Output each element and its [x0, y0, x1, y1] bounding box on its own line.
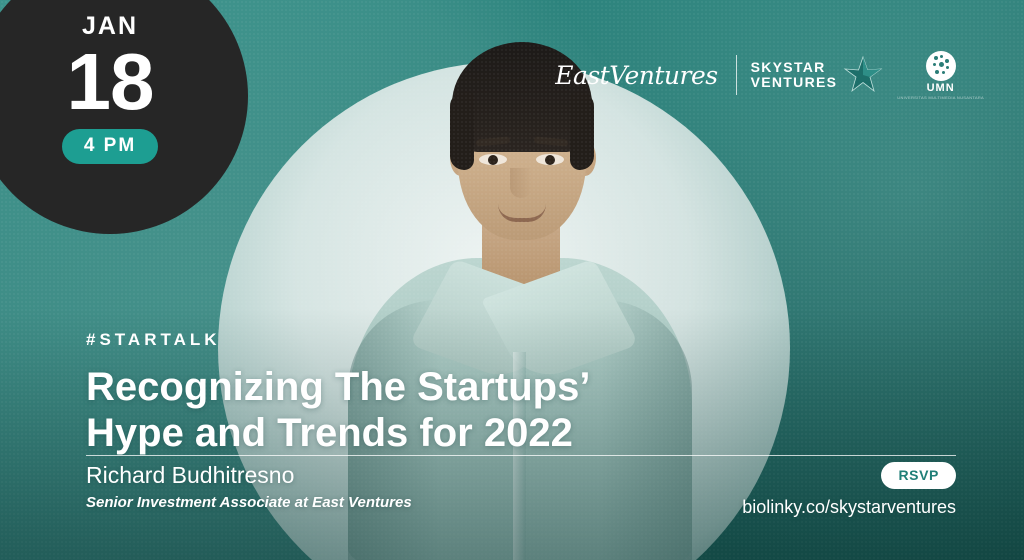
- date-badge: JAN 18 4 PM: [0, 0, 248, 234]
- page-title: Recognizing The Startups’ Hype and Trend…: [86, 364, 706, 457]
- date-time-pill: 4 PM: [62, 129, 158, 164]
- skystar-ventures-logo: SKYSTAR VENTURES: [751, 55, 884, 95]
- skystar-line-1: SKYSTAR: [751, 60, 838, 75]
- east-ventures-logo: EastVentures: [555, 61, 721, 90]
- date-badge-content: JAN 18 4 PM: [0, 0, 220, 200]
- skystar-wordmark: SKYSTAR VENTURES: [751, 60, 838, 90]
- date-day: 18: [67, 43, 154, 121]
- speaker-title: Senior Investment Associate at East Vent…: [86, 494, 412, 511]
- rsvp-link[interactable]: biolinky.co/skystarventures: [742, 497, 956, 518]
- umn-logo: UMN UNIVERSITAS MULTIMEDIA NUSANTARA: [897, 51, 984, 100]
- rsvp-block: RSVP biolinky.co/skystarventures: [742, 462, 956, 518]
- divider-rule: [86, 455, 956, 456]
- rsvp-button[interactable]: RSVP: [881, 462, 956, 489]
- date-month: JAN: [82, 14, 138, 39]
- series-hashtag: #STARTALK: [86, 330, 966, 350]
- skystar-line-2: VENTURES: [751, 75, 838, 90]
- logo-divider: [736, 55, 737, 95]
- speaker-name: Richard Budhitresno: [86, 462, 412, 490]
- umn-subtext: UNIVERSITAS MULTIMEDIA NUSANTARA: [897, 96, 984, 100]
- footer: Richard Budhitresno Senior Investment As…: [86, 462, 956, 518]
- event-poster: JAN 18 4 PM EastVentures SKYSTAR VENTURE…: [0, 0, 1024, 560]
- speaker-block: Richard Budhitresno Senior Investment As…: [86, 462, 412, 511]
- headline-line-2: Hype and Trends for 2022: [86, 411, 573, 455]
- umn-circle-icon: [926, 51, 956, 81]
- logo-bar: EastVentures SKYSTAR VENTURES: [555, 52, 984, 98]
- headline-line-1: Recognizing The Startups’: [86, 365, 590, 409]
- skystar-star-icon: [843, 55, 883, 95]
- main-content: #STARTALK Recognizing The Startups’ Hype…: [86, 330, 966, 457]
- umn-wordmark: UMN: [927, 83, 955, 94]
